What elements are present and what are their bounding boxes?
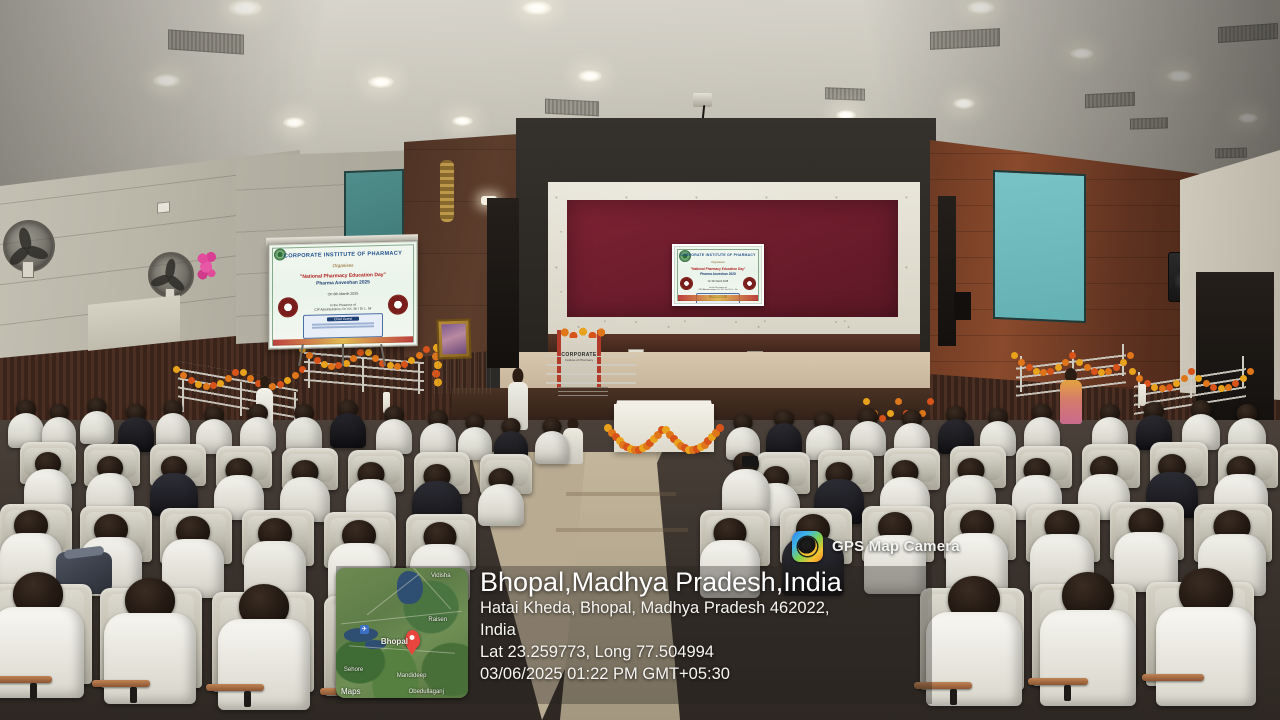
audience-member xyxy=(240,404,276,452)
garland-bead xyxy=(284,377,291,384)
gps-address-line-2: India xyxy=(480,619,842,641)
garland-bead xyxy=(195,381,202,388)
map-label: Raisen xyxy=(428,617,447,623)
garland-bead xyxy=(1011,352,1018,359)
framed-portrait-icon xyxy=(436,318,471,359)
aisle-step xyxy=(556,528,688,532)
stage-side-door xyxy=(938,196,956,346)
garland-bead xyxy=(1136,375,1143,382)
stage-railing-center xyxy=(546,356,636,384)
downlight-icon xyxy=(452,116,473,126)
map-label: Vidisha xyxy=(431,573,451,579)
audience-member xyxy=(218,584,310,710)
teal-wall-panel-right xyxy=(993,170,1086,323)
garland-bead xyxy=(423,346,430,353)
audience-member xyxy=(1040,572,1136,706)
marigold-garland-icon xyxy=(1132,368,1250,394)
garland-bead xyxy=(863,398,870,405)
gps-app-badge: GPS Map Camera xyxy=(792,531,960,562)
wall-switchboard xyxy=(157,201,170,213)
garland-bead xyxy=(232,369,239,376)
seat-armrest xyxy=(206,684,264,691)
pink-flower-icon xyxy=(196,251,218,281)
garland-bead xyxy=(1047,368,1054,375)
garland-bead xyxy=(1040,369,1047,376)
wall-fan-icon xyxy=(148,252,190,294)
hanging-decoration xyxy=(440,160,454,222)
garland-bead xyxy=(1181,375,1188,382)
map-thumbnail[interactable]: ✈ Vidisha Raisen Bhopal Sehore Mandideep… xyxy=(336,568,468,698)
photo-canvas: CORPORATE INSTITUTE OF PHARMACY Organise… xyxy=(0,0,1280,720)
garland-bead xyxy=(1232,380,1239,387)
garland-bead xyxy=(1069,352,1076,359)
garland-bead xyxy=(188,377,195,384)
person-standing-right-saree xyxy=(1060,368,1082,424)
garland-bead xyxy=(292,372,299,379)
garland-bead xyxy=(887,410,894,417)
garland-bead xyxy=(247,375,254,382)
audience-member xyxy=(478,468,524,526)
map-label: Obedullaganj xyxy=(409,689,444,695)
downlight-icon xyxy=(578,70,602,82)
stage-banner: CORPORATE INSTITUTE OF PHARMACY Organise… xyxy=(672,244,764,306)
wall-niche-right xyxy=(954,292,971,320)
armrest-bracket xyxy=(244,691,251,707)
audience-member xyxy=(376,406,412,454)
armrest-bracket xyxy=(950,689,957,705)
garland-bead xyxy=(1098,369,1105,376)
wall-notice-board xyxy=(88,295,180,351)
gps-coordinates: Lat 23.259773, Long 77.504994 xyxy=(480,641,842,663)
marigold-garland-icon xyxy=(176,366,302,392)
garland-bead xyxy=(1091,368,1098,375)
gps-address-line-1: Hatai Kheda, Bhopal, Madhya Pradesh 4620… xyxy=(480,597,842,619)
camera-lens-icon xyxy=(792,531,823,562)
garland-bead xyxy=(387,362,394,369)
garland-bead xyxy=(408,357,415,364)
garland-bead xyxy=(1127,352,1134,359)
aisle-step xyxy=(566,492,676,496)
garland-bead xyxy=(1173,380,1180,387)
audience-member xyxy=(156,400,190,448)
seat-armrest xyxy=(92,680,150,687)
exit-door-left-of-stage xyxy=(487,198,519,368)
audience-member xyxy=(766,410,802,458)
map-label: Mandideep xyxy=(397,673,427,679)
garland-bead xyxy=(1240,375,1247,382)
garland-bead xyxy=(394,363,401,370)
garland-bead xyxy=(927,398,934,405)
audience-member xyxy=(150,456,198,516)
garland-bead xyxy=(716,424,724,432)
garland-bead xyxy=(1033,368,1040,375)
garland-bead xyxy=(173,366,180,373)
map-attribution: Maps xyxy=(340,687,361,696)
audience-member xyxy=(80,398,114,444)
audience-member xyxy=(24,452,72,512)
seat-armrest xyxy=(1142,674,1204,681)
garland-bead xyxy=(1247,368,1254,375)
garland-bead xyxy=(401,361,408,368)
garland-bead xyxy=(1195,375,1202,382)
award-seal-icon xyxy=(743,277,756,290)
audience-member xyxy=(535,418,569,464)
garland-bead xyxy=(180,372,187,379)
projector-screen: CORPORATE INSTITUTE OF PHARMACY Organise… xyxy=(268,240,418,350)
garland-bead xyxy=(225,375,232,382)
map-label: Sehore xyxy=(344,667,363,673)
gps-text-block: Bhopal,Madhya Pradesh,India Hatai Kheda,… xyxy=(480,566,842,686)
garland-bead xyxy=(1210,384,1217,391)
garland-bead xyxy=(1188,368,1195,375)
downlight-icon xyxy=(522,1,552,15)
garland-bead xyxy=(1151,384,1158,391)
award-seal-icon xyxy=(680,277,693,290)
handheld-camera-icon xyxy=(742,456,758,467)
garland-bead xyxy=(1120,359,1127,366)
garland-bead xyxy=(1203,380,1210,387)
armrest-bracket xyxy=(1064,685,1071,701)
garland-bead xyxy=(1105,368,1112,375)
garland-bead xyxy=(1062,359,1069,366)
audience-member xyxy=(8,400,44,448)
audience-member xyxy=(1156,568,1256,706)
gps-city-line: Bhopal,Madhya Pradesh,India xyxy=(480,568,842,597)
seat-armrest xyxy=(1028,678,1088,685)
armrest-bracket xyxy=(30,683,37,699)
map-attribution-label: Maps xyxy=(341,687,361,696)
garland-bead xyxy=(1166,384,1173,391)
audience-member xyxy=(850,408,886,456)
garland-bead xyxy=(1159,385,1166,392)
banner-institute-name: CORPORATE INSTITUTE OF PHARMACY xyxy=(678,253,758,257)
garland-bead xyxy=(203,383,210,390)
marigold-garland-icon xyxy=(559,324,607,338)
audience-member xyxy=(1024,404,1060,452)
garland-bead xyxy=(277,381,284,388)
garland-bead xyxy=(210,382,217,389)
garland-bead xyxy=(1218,385,1225,392)
garland-bead xyxy=(1225,384,1232,391)
armrest-bracket xyxy=(130,687,137,703)
garland-bead xyxy=(1076,359,1083,366)
map-label-primary: Bhopal xyxy=(381,637,408,646)
garland-bead xyxy=(1129,368,1136,375)
garland-bead xyxy=(1084,364,1091,371)
garland-bead xyxy=(416,352,423,359)
audience-member xyxy=(286,404,322,452)
gps-timestamp: 03/06/2025 01:22 PM GMT+05:30 xyxy=(480,663,842,685)
garland-bead xyxy=(240,369,247,376)
air-vent-icon xyxy=(545,99,599,117)
garland-bead xyxy=(1018,359,1025,366)
garland-bead xyxy=(1026,364,1033,371)
audience-member xyxy=(330,400,366,448)
gps-app-name: GPS Map Camera xyxy=(832,538,960,555)
projector-screen-tripod xyxy=(300,344,384,366)
airport-icon: ✈ xyxy=(360,625,369,634)
marigold-garland-icon xyxy=(608,424,720,458)
wall-fan-icon xyxy=(3,220,51,268)
garland-bead xyxy=(895,398,902,405)
garland-bead xyxy=(217,380,224,387)
audience-member xyxy=(420,410,456,458)
gps-info-panel: ✈ Vidisha Raisen Bhopal Sehore Mandideep… xyxy=(336,566,932,704)
garland-bead xyxy=(1113,364,1120,371)
seat-armrest xyxy=(0,676,52,683)
